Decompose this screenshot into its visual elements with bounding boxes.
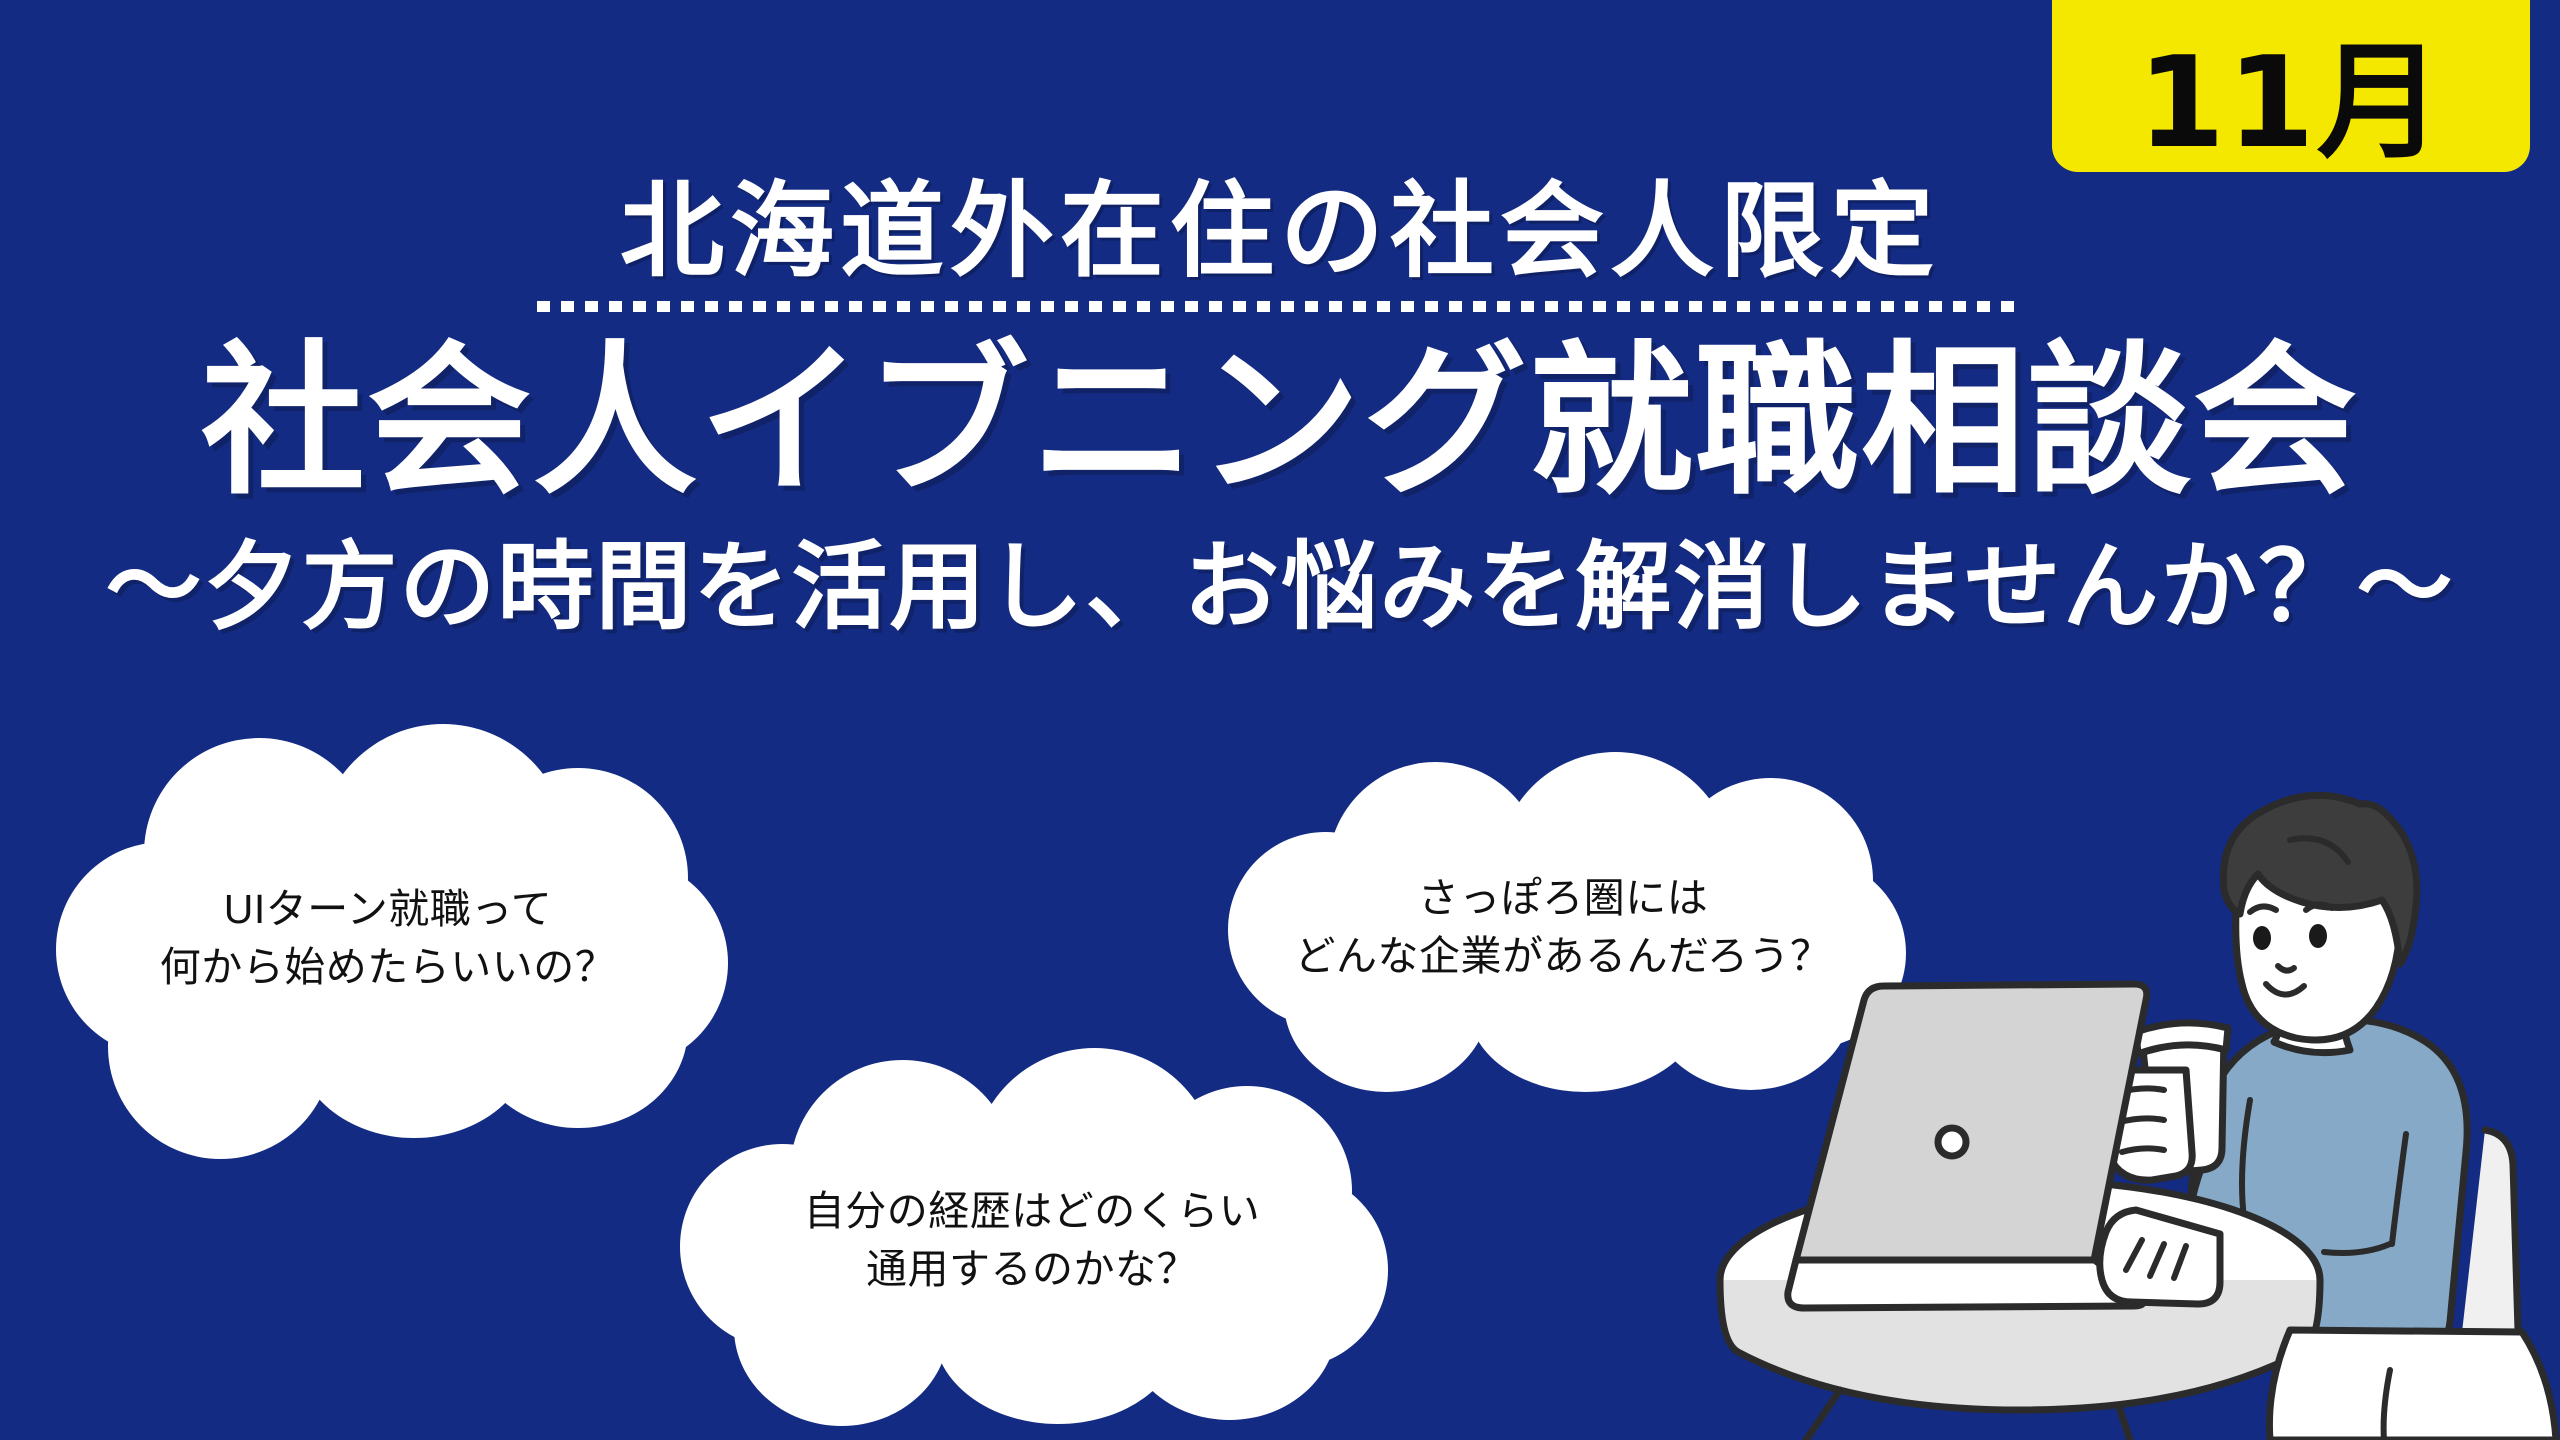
- speech-bubble-career-text: 自分の経歴はどのくらい 通用するのかな？: [672, 1182, 1392, 1298]
- poster-canvas: 11月 北海道外在住の社会人限定 社会人イブニング就職相談会 〜夕方の時間を活用…: [0, 0, 2560, 1440]
- bubble-line: さっぽろ圏には: [1288, 869, 1838, 927]
- bubble-line: 通用するのかな？: [736, 1240, 1328, 1298]
- bubble-line: どんな企業があるんだろう？: [1288, 927, 1838, 985]
- bubble-line: 何から始めたらいいの？: [118, 938, 658, 996]
- kicker-dotted-rule: [537, 301, 2024, 312]
- bubble-line: UIターン就職って: [118, 880, 658, 938]
- kicker-block: 北海道外在住の社会人限定: [0, 178, 2560, 312]
- speech-bubble-uiturn: UIターン就職って 何から始めたらいいの？: [48, 738, 728, 1138]
- month-badge-label: 11月: [2137, 40, 2444, 166]
- month-badge: 11月: [2052, 0, 2530, 172]
- page-title: 社会人イブニング就職相談会: [0, 340, 2560, 504]
- speech-bubble-uiturn-text: UIターン就職って 何から始めたらいいの？: [48, 880, 728, 996]
- page-tagline: 〜夕方の時間を活用し、お悩みを解消しませんか？〜: [0, 540, 2560, 636]
- bubble-line: 自分の経歴はどのくらい: [736, 1182, 1328, 1240]
- kicker-text: 北海道外在住の社会人限定: [620, 178, 1940, 287]
- speech-bubble-career: 自分の経歴はどのくらい 通用するのかな？: [672, 1060, 1392, 1420]
- speech-bubble-sapporo-text: さっぽろ圏には どんな企業があるんだろう？: [1218, 869, 1908, 985]
